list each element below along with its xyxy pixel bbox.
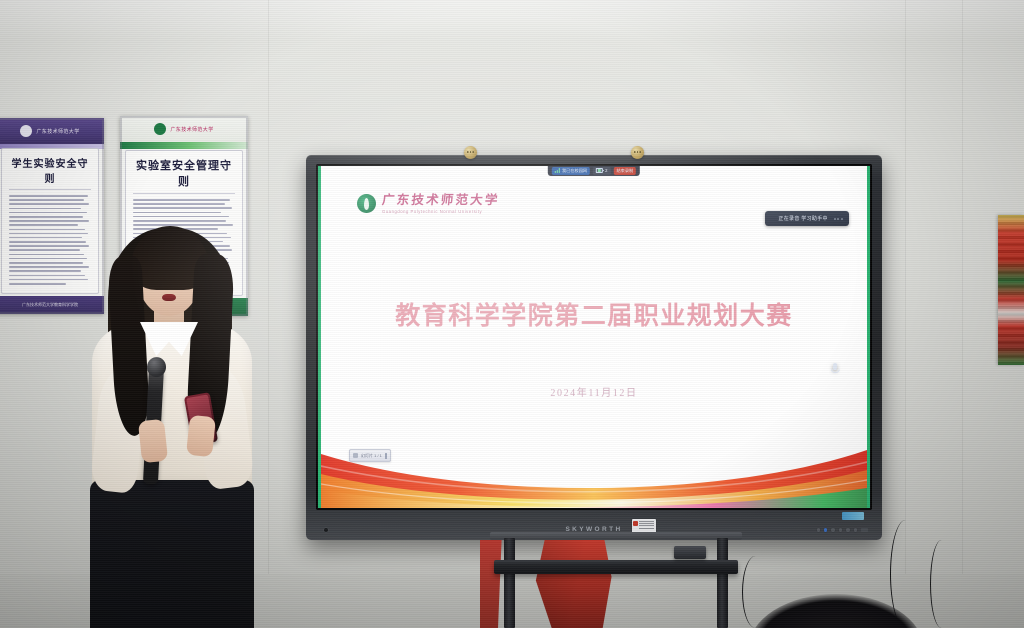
- interactive-flat-panel[interactable]: 广东技术师范大学 Guangdong Polytechnic Normal Un…: [306, 155, 882, 540]
- slide-title: 教育科学学院第二届职业规划大赛: [321, 296, 867, 332]
- battery-icon: [596, 168, 603, 173]
- presentation-slide[interactable]: 广东技术师范大学 Guangdong Polytechnic Normal Un…: [321, 166, 867, 508]
- wall-top-highlight: [0, 0, 1024, 40]
- university-name-en: Guangdong Polytechnic Normal University: [382, 210, 500, 214]
- presenter: [84, 218, 260, 628]
- microphone-head-icon: [147, 357, 167, 378]
- university-emblem-icon: [357, 194, 376, 213]
- stand-leg-right: [717, 538, 728, 628]
- volume-up-button[interactable]: [846, 528, 849, 531]
- wall-seam: [962, 0, 963, 628]
- microphone-icon: [833, 363, 837, 370]
- network-status-label: 我已在校园网: [562, 168, 587, 174]
- screenshot-root: 广东技术师范大学 学生实验安全守则 广东技术师范大学教育科学学院: [0, 0, 1024, 628]
- power-cable: [930, 540, 953, 628]
- volume-down-button[interactable]: [839, 528, 842, 531]
- stand-shelf: [494, 560, 738, 574]
- stop-recording-label: 结束录制: [616, 168, 633, 174]
- screen-status-toolbar[interactable]: 我已在校园网 2 结束录制: [548, 166, 640, 176]
- assistant-label: 正在录音 学习助手中: [778, 215, 827, 222]
- sticker-logo-icon: [633, 521, 638, 526]
- port-button-row[interactable]: [817, 528, 868, 532]
- source-button[interactable]: [854, 528, 857, 531]
- mount-knob-icon: [464, 146, 477, 159]
- university-name-cn: 广东技术师范大学: [381, 194, 500, 207]
- display-screen[interactable]: 广东技术师范大学 Guangdong Polytechnic Normal Un…: [318, 166, 870, 508]
- skirt: [90, 480, 254, 628]
- stop-recording-chip[interactable]: 结束录制: [613, 167, 636, 175]
- screen-edge-glow-right: [867, 166, 870, 508]
- wall-seam: [268, 0, 269, 628]
- indicator-led-icon: [824, 528, 827, 531]
- menu-button[interactable]: [831, 528, 834, 531]
- red-celebration-banner: [998, 215, 1024, 365]
- battery-label: 2: [605, 168, 607, 173]
- signal-bars-icon: [555, 168, 560, 173]
- mobile-display-stand: [500, 538, 732, 628]
- stand-leg-left: [504, 538, 515, 628]
- lips: [162, 294, 176, 301]
- usb-port-icon[interactable]: [861, 528, 868, 532]
- spec-sticker: [842, 512, 864, 520]
- ir-sensor-icon: [324, 528, 328, 532]
- mount-knob-icon: [631, 146, 644, 159]
- hand-right: [186, 415, 216, 457]
- stand-crossbar: [490, 532, 742, 540]
- recording-assistant-pill[interactable]: 正在录音 学习助手中: [765, 211, 849, 226]
- slide-date: 2024年11月12日: [321, 384, 867, 399]
- battery-status-chip[interactable]: 2: [593, 167, 610, 175]
- receiver-box: [674, 546, 706, 559]
- more-options-icon[interactable]: [834, 218, 843, 220]
- hand-left: [138, 419, 168, 463]
- network-status-chip[interactable]: 我已在校园网: [552, 167, 590, 175]
- university-logo: 广东技术师范大学 Guangdong Polytechnic Normal Un…: [357, 194, 500, 214]
- power-button[interactable]: [817, 528, 820, 531]
- slide-wave-decoration: [321, 440, 867, 508]
